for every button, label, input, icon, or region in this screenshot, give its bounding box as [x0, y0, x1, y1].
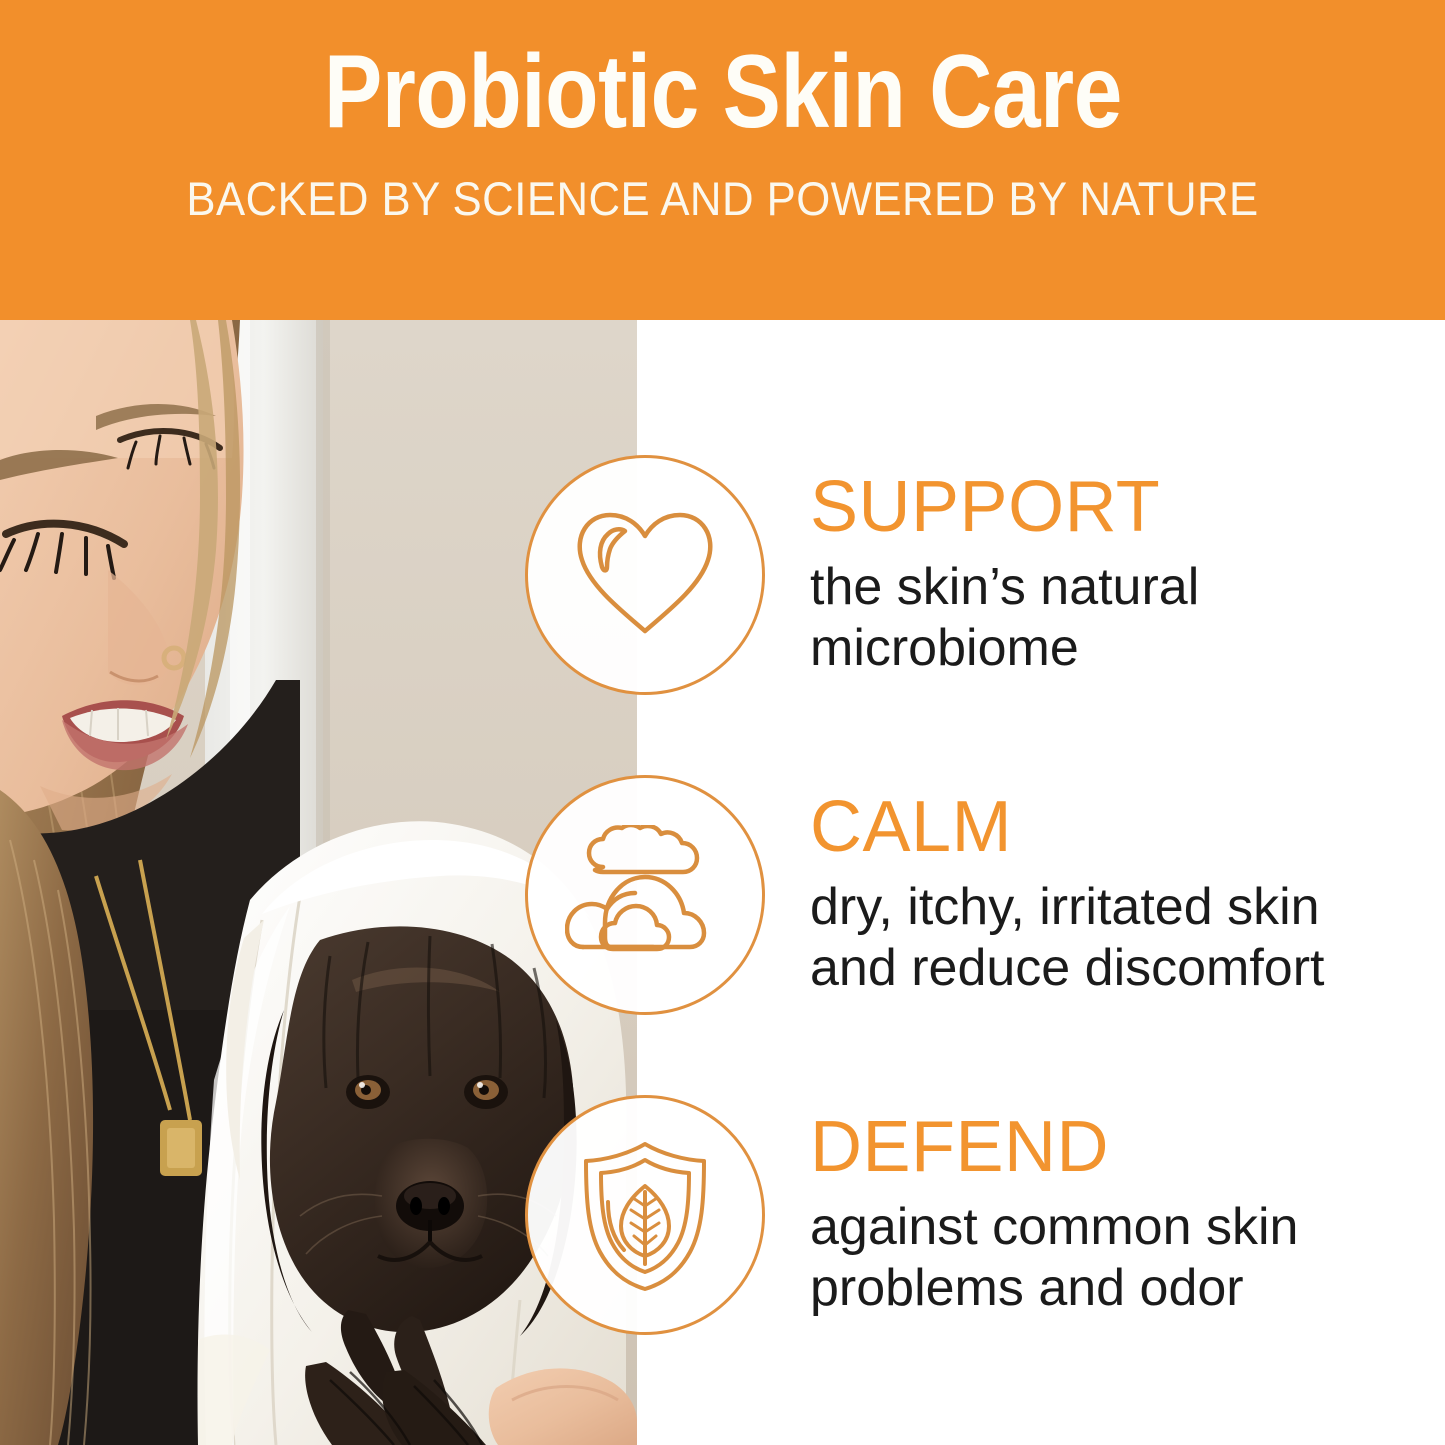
clouds-icon — [525, 775, 765, 1015]
feature-desc-defend: against common skin problems and odor — [810, 1197, 1298, 1320]
header-banner: Probiotic Skin Care BACKED BY SCIENCE AN… — [0, 0, 1445, 320]
feature-text-defend: DEFEND against common skin problems and … — [810, 1111, 1298, 1320]
heart-icon — [525, 455, 765, 695]
feature-row-calm: CALM dry, itchy, irritated skin and redu… — [525, 775, 1425, 1015]
feature-text-support: SUPPORT the skin’s natural microbiome — [810, 471, 1199, 680]
feature-text-calm: CALM dry, itchy, irritated skin and redu… — [810, 791, 1325, 1000]
page-subtitle: BACKED BY SCIENCE AND POWERED BY NATURE — [186, 171, 1258, 226]
shield-leaf-icon — [525, 1095, 765, 1335]
feature-desc-support: the skin’s natural microbiome — [810, 557, 1199, 680]
feature-row-defend: DEFEND against common skin problems and … — [525, 1095, 1425, 1335]
infographic-page: Probiotic Skin Care BACKED BY SCIENCE AN… — [0, 0, 1445, 1445]
feature-title-defend: DEFEND — [810, 1111, 1298, 1183]
feature-desc-calm: dry, itchy, irritated skin and reduce di… — [810, 877, 1325, 1000]
feature-title-support: SUPPORT — [810, 471, 1199, 543]
page-title: Probiotic Skin Care — [324, 38, 1122, 147]
feature-title-calm: CALM — [810, 791, 1325, 863]
feature-row-support: SUPPORT the skin’s natural microbiome — [525, 455, 1425, 695]
